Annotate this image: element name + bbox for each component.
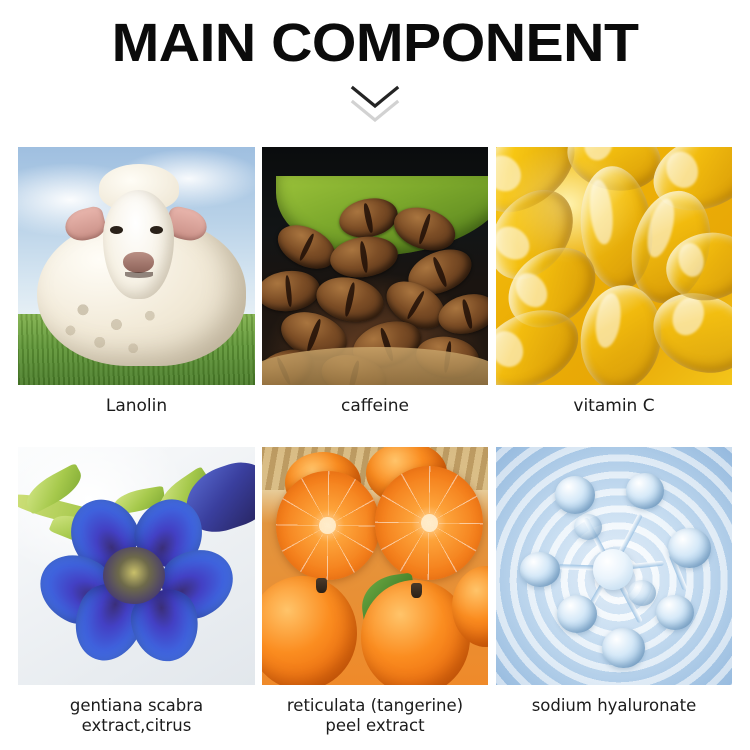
component-caption: vitamin C bbox=[496, 396, 732, 417]
component-caption: gentiana scabra extract,citrus bbox=[18, 696, 255, 736]
header: MAIN COMPONENT bbox=[0, 0, 750, 140]
component-caption: caffeine bbox=[262, 396, 488, 417]
tangerine-fruit-photo bbox=[262, 447, 488, 685]
component-caption: sodium hyaluronate bbox=[496, 696, 732, 716]
component-caption: Lanolin bbox=[18, 396, 255, 417]
page-title: MAIN COMPONENT bbox=[0, 14, 750, 72]
component-card-vitamin-c[interactable]: vitamin C bbox=[496, 147, 732, 417]
double-chevron-down-icon bbox=[0, 84, 750, 126]
component-card-tangerine[interactable]: reticulata (tangerine) peel extract bbox=[262, 447, 488, 736]
component-card-gentiana[interactable]: gentiana scabra extract,citrus bbox=[18, 447, 255, 736]
component-card-sodium-hyaluronate[interactable]: sodium hyaluronate bbox=[496, 447, 732, 716]
sheep-in-grass-photo bbox=[18, 147, 255, 385]
yellow-softgel-capsules-photo bbox=[496, 147, 732, 385]
blue-gentiana-flower-photo bbox=[18, 447, 255, 685]
roasted-coffee-beans-photo bbox=[262, 147, 488, 385]
water-molecule-graphic bbox=[496, 447, 732, 685]
component-card-caffeine[interactable]: caffeine bbox=[262, 147, 488, 417]
component-caption: reticulata (tangerine) peel extract bbox=[262, 696, 488, 736]
component-row: Lanolin bbox=[18, 147, 732, 447]
component-row: gentiana scabra extract,citrus bbox=[18, 447, 732, 747]
component-grid: Lanolin bbox=[18, 147, 732, 747]
component-card-lanolin[interactable]: Lanolin bbox=[18, 147, 255, 417]
